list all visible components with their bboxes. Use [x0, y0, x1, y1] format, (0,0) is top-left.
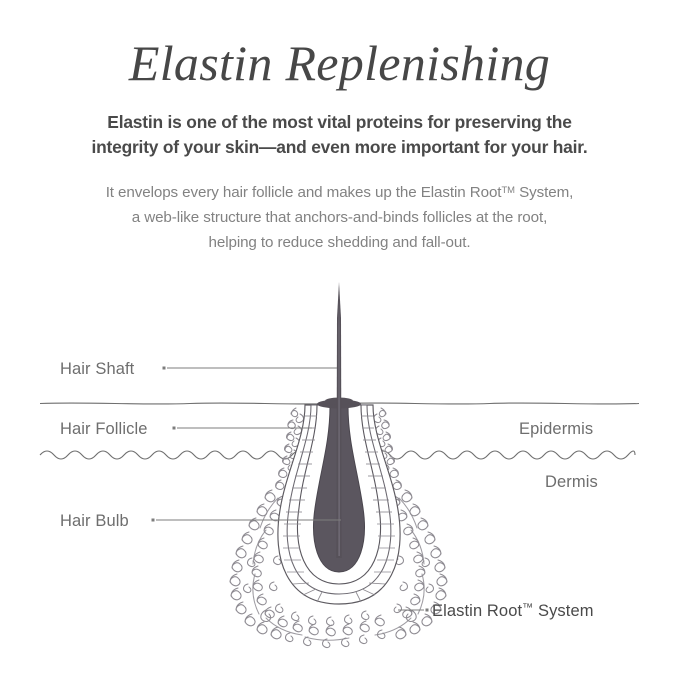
- body-paragraph: It envelops every hair follicle and make…: [0, 160, 679, 255]
- label-hair-bulb: Hair Bulb: [60, 512, 129, 530]
- leader-dot-elastin-root: [426, 609, 429, 612]
- leader-dot-hair-shaft: [163, 367, 166, 370]
- label-epidermis: Epidermis: [519, 420, 593, 438]
- label-elastin-root-text-b: System: [533, 602, 593, 620]
- body-line-2: a web-like structure that anchors-and-bi…: [0, 205, 679, 230]
- leader-dot-hair-bulb: [152, 519, 155, 522]
- page-title: Elastin Replenishing: [0, 0, 679, 88]
- body-line-3: helping to reduce shedding and fall-out.: [0, 230, 679, 255]
- label-elastin-root-system: Elastin Root™ System: [432, 602, 594, 620]
- subtitle-line-1: Elastin is one of the most vital protein…: [0, 110, 679, 135]
- subtitle-text: Elastin is one of the most vital protein…: [0, 88, 679, 160]
- infographic-page: Elastin Replenishing Elastin is one of t…: [0, 0, 679, 679]
- hair-follicle-diagram: Hair Shaft Hair Follicle Hair Bulb Epide…: [0, 258, 679, 679]
- label-hair-follicle: Hair Follicle: [60, 420, 147, 438]
- label-hair-shaft: Hair Shaft: [60, 360, 135, 378]
- hair-follicle-body: [278, 282, 400, 604]
- trademark-symbol-inline: TM: [501, 184, 515, 195]
- subtitle-line-2: integrity of your skin—and even more imp…: [0, 135, 679, 160]
- leader-dot-hair-follicle: [173, 427, 176, 430]
- header-block: Elastin Replenishing Elastin is one of t…: [0, 0, 679, 255]
- body-line-1-text-a: It envelops every hair follicle and make…: [106, 184, 502, 201]
- label-elastin-root-trademark: ™: [522, 602, 533, 614]
- body-line-1: It envelops every hair follicle and make…: [0, 177, 679, 205]
- label-elastin-root-text-a: Elastin Root: [432, 602, 522, 620]
- body-line-1-text-b: System,: [515, 184, 573, 201]
- label-dermis: Dermis: [545, 473, 598, 491]
